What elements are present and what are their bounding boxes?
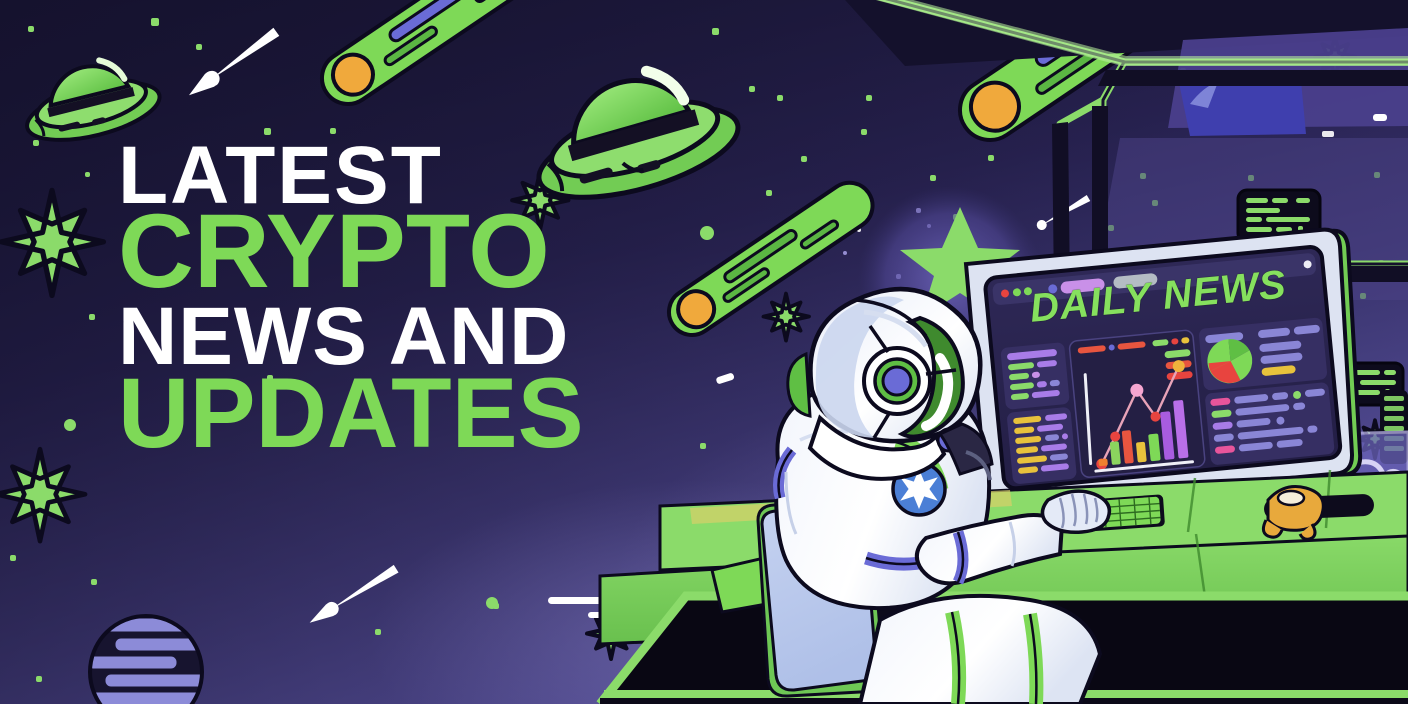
headline-line-4: UPDATES bbox=[118, 369, 584, 456]
astronaut-glove bbox=[1042, 491, 1109, 532]
banner-scene: LATEST CRYPTO NEWS AND UPDATES DAILY NEW… bbox=[0, 0, 1408, 704]
astronaut-helmet bbox=[788, 289, 992, 480]
page-title: LATEST CRYPTO NEWS AND UPDATES bbox=[118, 140, 584, 456]
helmet-ear-lens bbox=[883, 367, 911, 395]
astronaut-leg bbox=[860, 596, 1100, 704]
helmet-green-patch bbox=[788, 354, 810, 416]
headline-line-2: CRYPTO bbox=[118, 206, 584, 298]
